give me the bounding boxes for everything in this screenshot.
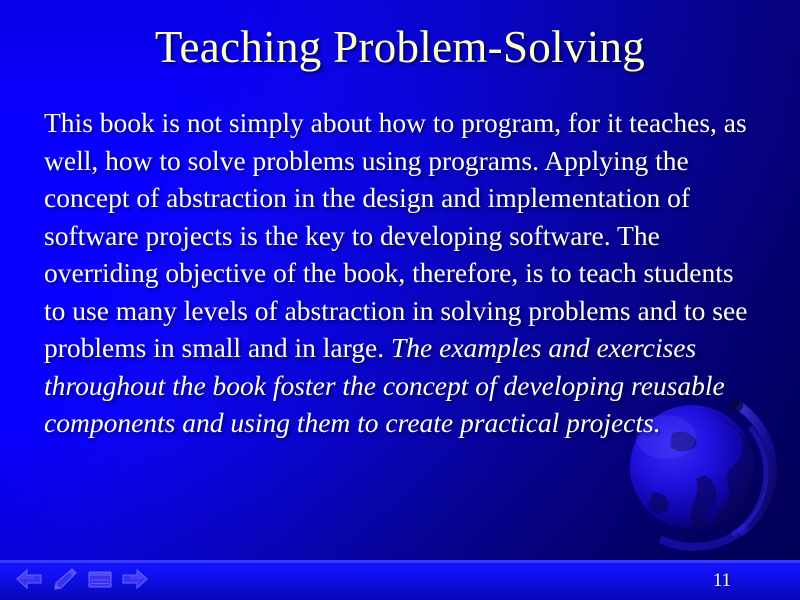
body-roman-text: This book is not simply about how to pro… (44, 107, 747, 363)
previous-slide-button[interactable] (14, 566, 44, 592)
next-slide-button[interactable] (120, 566, 150, 592)
annotate-button[interactable] (50, 566, 80, 592)
navbar-highlight-line (0, 560, 800, 563)
pencil-icon (50, 566, 80, 592)
page-icon (85, 566, 115, 592)
slide-title: Teaching Problem-Solving (0, 20, 800, 74)
right-arrow-icon (120, 566, 150, 592)
notes-button[interactable] (85, 566, 115, 592)
left-arrow-icon (14, 566, 44, 592)
page-number: 11 (700, 570, 744, 592)
navigation-icon-group (14, 566, 174, 594)
slide-body-text: This book is not simply about how to pro… (44, 104, 756, 442)
presentation-slide: Teaching Problem-Solving This book is no… (0, 0, 800, 600)
